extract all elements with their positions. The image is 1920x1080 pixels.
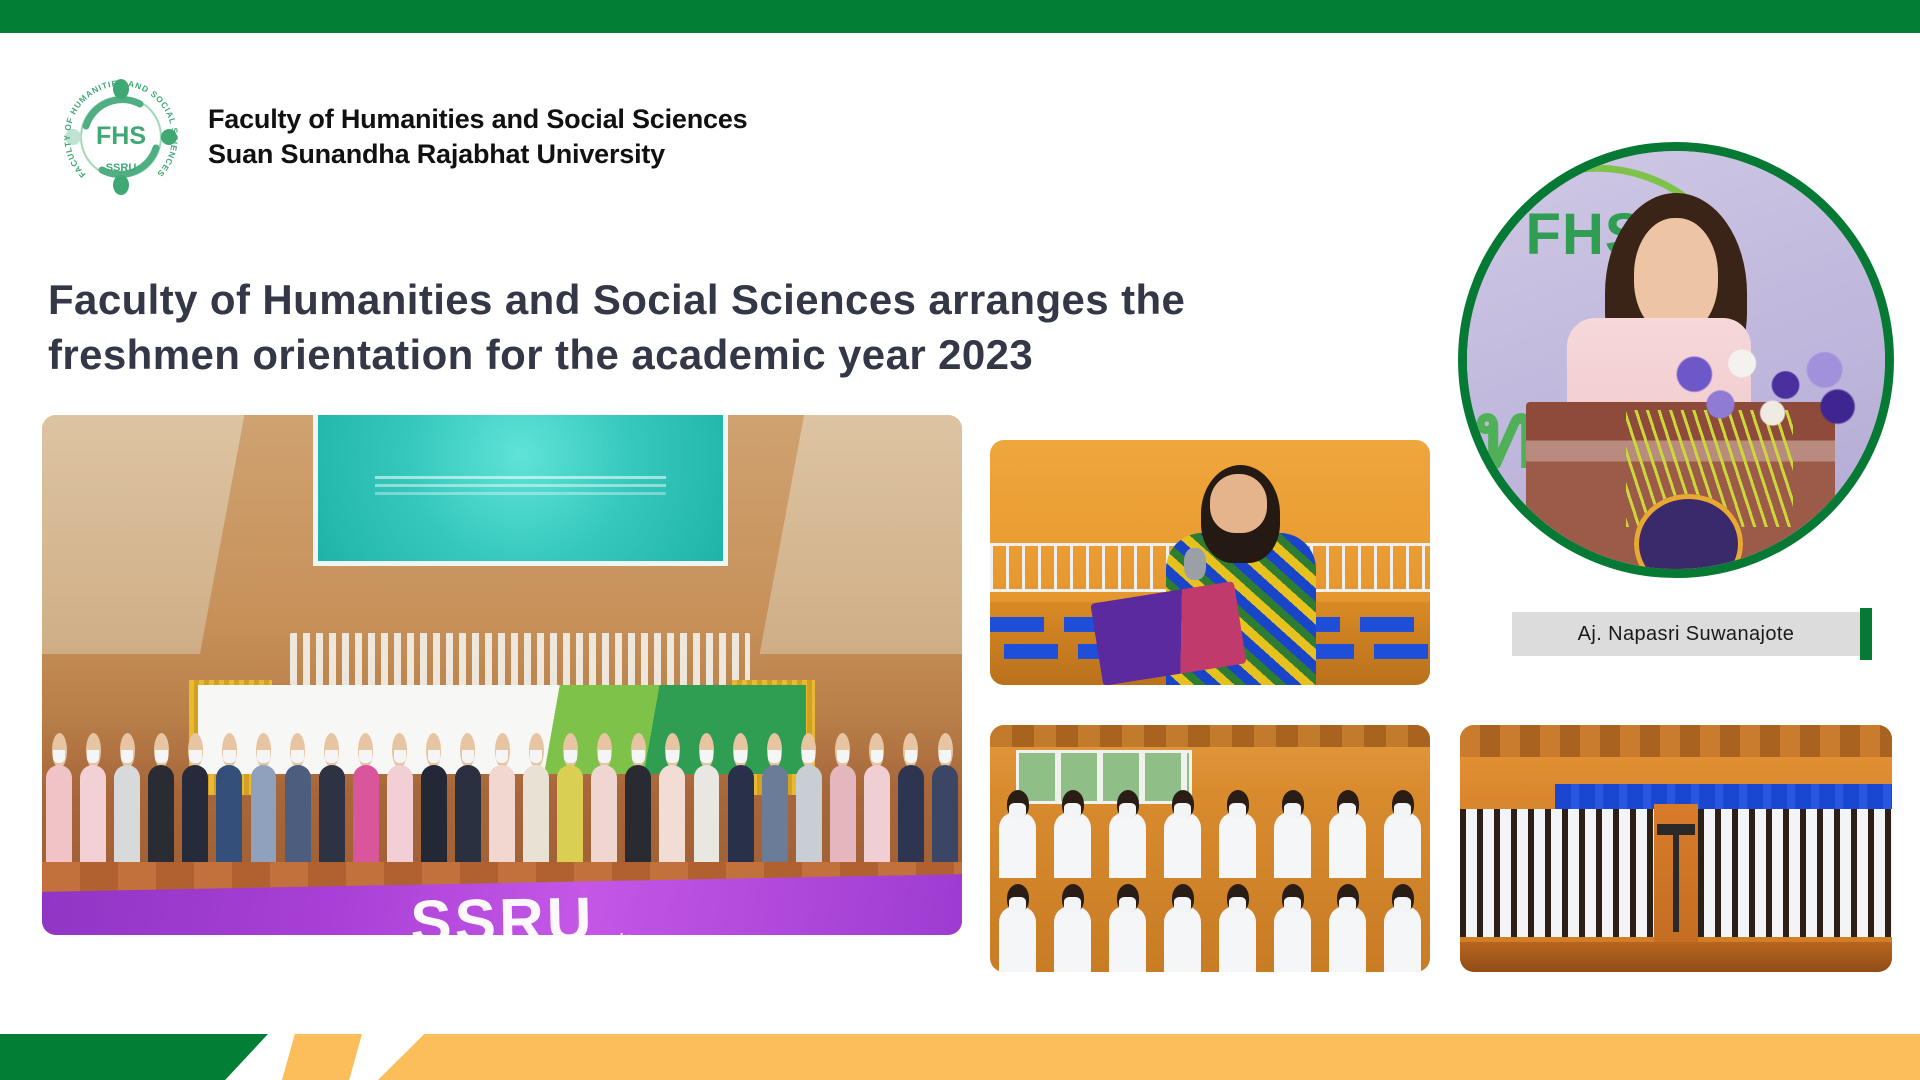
fhs-logo: FACULTY OF HUMANITIES AND SOCIAL SCIENCE… — [62, 78, 180, 196]
svg-text:SSRU: SSRU — [106, 162, 137, 174]
photo-students-audience — [990, 725, 1430, 972]
speaker-name-caption: Aj. Napasri Suwanajote — [1512, 612, 1860, 656]
page-title: Faculty of Humanities and Social Science… — [48, 272, 1408, 383]
speaker-name-text: Aj. Napasri Suwanajote — [1578, 623, 1795, 646]
brand-line-2: Suan Sunandha Rajabhat University — [208, 137, 747, 172]
speaker-portrait: FHS ท — [1458, 142, 1894, 578]
bottom-green-segment — [0, 1034, 268, 1080]
photo-group-stage — [42, 415, 962, 935]
top-green-band — [0, 0, 1920, 33]
page-title-line-1: Faculty of Humanities and Social Science… — [48, 272, 1408, 327]
bottom-amber-segment-small — [282, 1034, 362, 1080]
brand-header: FACULTY OF HUMANITIES AND SOCIAL SCIENCE… — [62, 78, 747, 196]
page-title-line-2: freshmen orientation for the academic ye… — [48, 327, 1408, 382]
bottom-amber-segment-large — [378, 1034, 1920, 1080]
brand-line-1: Faculty of Humanities and Social Science… — [208, 102, 747, 137]
caption-green-accent — [1860, 608, 1872, 660]
flower-bouquet — [1651, 331, 1868, 440]
photo-student-speaker — [990, 440, 1430, 685]
faculty-row — [42, 727, 962, 873]
stage-screen — [318, 415, 723, 561]
svg-text:FHS: FHS — [96, 122, 146, 150]
photo-auditorium-wide — [1460, 725, 1892, 972]
microphone-icon — [1184, 548, 1206, 580]
bottom-decor-bar — [0, 1034, 1920, 1080]
camera-tripod — [1673, 824, 1680, 933]
stage-wall-thai-text — [290, 633, 750, 685]
